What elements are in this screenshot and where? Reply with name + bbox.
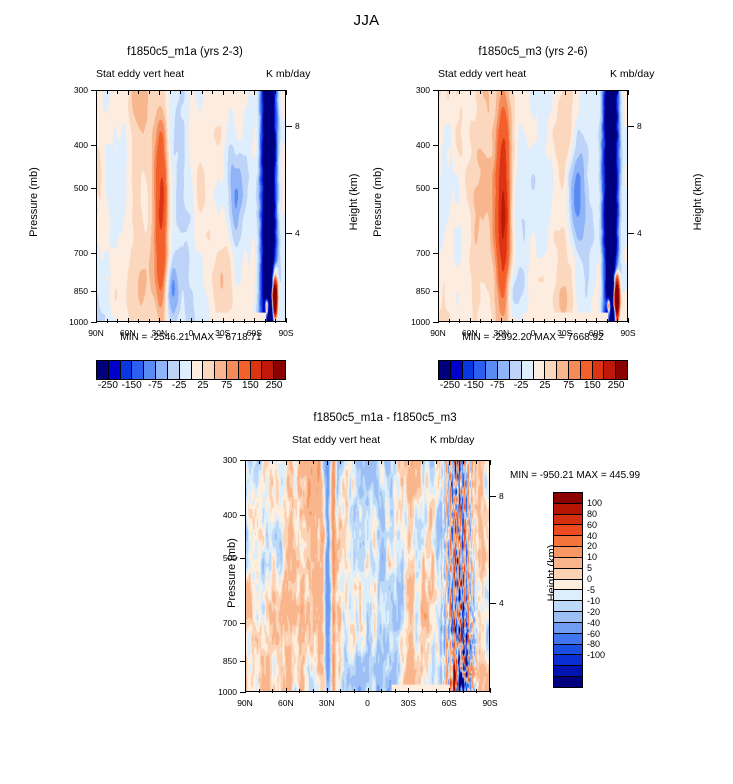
colorbar-tick-label: -150: [464, 380, 484, 391]
colorbar-horizontal[interactable]: -250-150-75-252575150250: [438, 360, 628, 394]
colorbar-tick-label: -5: [587, 585, 595, 595]
colorbar-cell: [616, 361, 627, 379]
x-axis-tick: [286, 90, 287, 95]
y-axis-tick-label: 1000: [58, 317, 88, 327]
x-axis-tick-label: 30N: [312, 698, 342, 708]
contour-plot-area[interactable]: [245, 460, 490, 692]
colorbar-cell: [554, 666, 582, 677]
panel-title: f1850c5_m3 (yrs 2-6): [378, 46, 688, 58]
x-axis-tick-label: 90S: [475, 698, 505, 708]
colorbar-cell: [554, 590, 582, 601]
colorbar-tick-label: -10: [587, 596, 600, 606]
colorbar-tick-label: -250: [440, 380, 460, 391]
colorbar-cell: [439, 361, 451, 379]
colorbar-cell: [251, 361, 263, 379]
y-axis-tick-label: 700: [58, 248, 88, 258]
colorbar-tick-label: -80: [587, 639, 600, 649]
colorbar-cell: [545, 361, 557, 379]
colorbar-cell: [132, 361, 144, 379]
colorbar-tick-label: -40: [587, 618, 600, 628]
field-label-right: K mb/day: [266, 68, 310, 80]
y-axis-tick-label: 850: [400, 286, 430, 296]
y-axis-tick-label: 500: [58, 183, 88, 193]
colorbar-cell: [554, 612, 582, 623]
contour-plot-area[interactable]: [438, 90, 628, 322]
right-axis-label: Height (km): [692, 142, 704, 262]
panel-title: f1850c5_m1a (yrs 2-3): [30, 46, 340, 58]
colorbar-cell: [554, 580, 582, 591]
colorbar-cell: [156, 361, 168, 379]
panel-bottom: f1850c5_m1a - f1850c5_m3 Stat eddy vert …: [180, 412, 733, 732]
colorbar-cell: [604, 361, 616, 379]
colorbar-tick-label: -250: [98, 380, 118, 391]
colorbar-tick-label: 75: [563, 380, 574, 391]
colorbar-tick-label: 80: [587, 509, 597, 519]
colorbar-tick-label: 150: [242, 380, 259, 391]
colorbar-cell: [486, 361, 498, 379]
y-axis-tick-label: 1000: [400, 317, 430, 327]
x-axis-tick-label: 30S: [393, 698, 423, 708]
x-axis-tick: [286, 318, 287, 323]
colorbar-cell: [554, 493, 582, 504]
y2-axis-tick-label: 8: [499, 491, 513, 501]
colorbar-cell: [463, 361, 475, 379]
colorbar-cell: [498, 361, 510, 379]
x-axis-tick-label: 60N: [271, 698, 301, 708]
colorbar-tick-label: 60: [587, 520, 597, 530]
y-axis-tick-label: 1000: [207, 687, 237, 697]
colorbar-cell: [215, 361, 227, 379]
y-axis-tick: [433, 322, 438, 323]
colorbar-tick-label: -75: [490, 380, 504, 391]
y-axis-tick-label: 300: [400, 85, 430, 95]
left-axis-label: Pressure (mb): [28, 142, 40, 262]
colorbar-cell: [180, 361, 192, 379]
colorbar-tick-label: 250: [266, 380, 283, 391]
y-axis-tick-label: 850: [58, 286, 88, 296]
colorbar-tick-label: 250: [608, 380, 625, 391]
y-axis-tick: [91, 322, 96, 323]
y2-axis-tick: [490, 603, 496, 604]
colorbar-horizontal[interactable]: -250-150-75-252575150250: [96, 360, 286, 394]
y2-axis-tick: [286, 233, 292, 234]
colorbar-tick-label: -60: [587, 629, 600, 639]
colorbar-tick-label: -20: [587, 607, 600, 617]
field-label-left: Stat eddy vert heat: [96, 68, 184, 80]
colorbar-cell: [554, 525, 582, 536]
colorbar-tick-label: 10: [587, 552, 597, 562]
colorbar-cell: [593, 361, 605, 379]
colorbar-cell: [554, 645, 582, 656]
colorbar-cell: [109, 361, 121, 379]
y2-axis-tick-label: 8: [637, 121, 651, 131]
colorbar-tick-label: 75: [221, 380, 232, 391]
y2-axis-tick: [628, 233, 634, 234]
colorbar-cell: [554, 558, 582, 569]
colorbar-cell: [451, 361, 463, 379]
colorbar-cell: [239, 361, 251, 379]
x-axis-tick: [628, 318, 629, 323]
colorbar-tick-label: -150: [122, 380, 142, 391]
colorbar-tick-label: 5: [587, 563, 592, 573]
x-axis-tick-label: 60S: [434, 698, 464, 708]
colorbar-tick-label: 25: [197, 380, 208, 391]
colorbar-tick-label: 100: [587, 498, 602, 508]
colorbar-cell: [192, 361, 204, 379]
left-axis-label: Pressure (mb): [226, 513, 238, 633]
field-label-left: Stat eddy vert heat: [438, 68, 526, 80]
minmax-readout: MIN = -950.21 MAX = 445.99: [510, 470, 730, 481]
x-axis-tick-label: 90N: [230, 698, 260, 708]
colorbar-cell: [581, 361, 593, 379]
y2-axis-tick: [286, 126, 292, 127]
colorbar-tick-label: 150: [584, 380, 601, 391]
colorbar-cell: [554, 504, 582, 515]
contour-plot-area[interactable]: [96, 90, 286, 322]
y-axis-tick-label: 500: [400, 183, 430, 193]
y-axis-tick-label: 700: [400, 248, 430, 258]
colorbar-vertical[interactable]: 100806040201050-5-10-20-40-60-80-100: [553, 492, 623, 688]
colorbar-cell: [554, 677, 582, 687]
panel-top-right: f1850c5_m3 (yrs 2-6) Stat eddy vert heat…: [348, 46, 733, 401]
colorbar-cell: [144, 361, 156, 379]
colorbar-cell: [554, 569, 582, 580]
colorbar-tick-label: 0: [587, 574, 592, 584]
colorbar-tick-label: -100: [587, 650, 605, 660]
x-axis-tick: [628, 90, 629, 95]
colorbar-cell: [557, 361, 569, 379]
colorbar-cell: [203, 361, 215, 379]
colorbar-tick-label: -25: [172, 380, 186, 391]
colorbar-cell: [474, 361, 486, 379]
panel-title: f1850c5_m1a - f1850c5_m3: [230, 412, 540, 424]
colorbar-cell: [554, 655, 582, 666]
y-axis-tick-label: 300: [58, 85, 88, 95]
colorbar-tick-label: -25: [514, 380, 528, 391]
y-axis-tick: [240, 692, 245, 693]
colorbar-tick-label: 20: [587, 541, 597, 551]
colorbar-cell: [510, 361, 522, 379]
y-axis-tick-label: 850: [207, 656, 237, 666]
x-axis-tick-label: 0: [353, 698, 383, 708]
field-label-right: K mb/day: [610, 68, 654, 80]
minmax-readout: MIN = -2992.20 MAX = 7668.92: [398, 332, 668, 343]
colorbar-cell: [227, 361, 239, 379]
colorbar-cell: [97, 361, 109, 379]
colorbar-cell: [569, 361, 581, 379]
colorbar-cell: [554, 601, 582, 612]
colorbar-cell: [168, 361, 180, 379]
colorbar-tick-label: -75: [148, 380, 162, 391]
figure-title: JJA: [0, 12, 733, 29]
y2-axis-tick: [628, 126, 634, 127]
y-axis-tick-label: 400: [58, 140, 88, 150]
colorbar-tick-label: 25: [539, 380, 550, 391]
colorbar-cell: [554, 536, 582, 547]
y-axis-tick-label: 400: [400, 140, 430, 150]
colorbar-cell: [522, 361, 534, 379]
colorbar-cell: [554, 634, 582, 645]
y-axis-tick-label: 300: [207, 455, 237, 465]
colorbar-tick-label: 40: [587, 531, 597, 541]
x-axis-tick: [490, 688, 491, 693]
y2-axis-tick-label: 4: [295, 228, 309, 238]
colorbar-cell: [554, 623, 582, 634]
y2-axis-tick-label: 4: [637, 228, 651, 238]
y2-axis-tick: [490, 496, 496, 497]
colorbar-cell: [554, 547, 582, 558]
panel-top-left: f1850c5_m1a (yrs 2-3) Stat eddy vert hea…: [0, 46, 370, 401]
colorbar-cell: [274, 361, 285, 379]
y2-axis-tick-label: 4: [499, 598, 513, 608]
field-label-left: Stat eddy vert heat: [292, 434, 380, 446]
minmax-readout: MIN = -2546.21 MAX = 6718.71: [56, 332, 326, 343]
colorbar-cell: [121, 361, 133, 379]
y2-axis-tick-label: 8: [295, 121, 309, 131]
x-axis-tick: [490, 460, 491, 465]
colorbar-cell: [554, 515, 582, 526]
colorbar-cell: [534, 361, 546, 379]
colorbar-cell: [262, 361, 274, 379]
field-label-right: K mb/day: [430, 434, 474, 446]
left-axis-label: Pressure (mb): [372, 142, 384, 262]
